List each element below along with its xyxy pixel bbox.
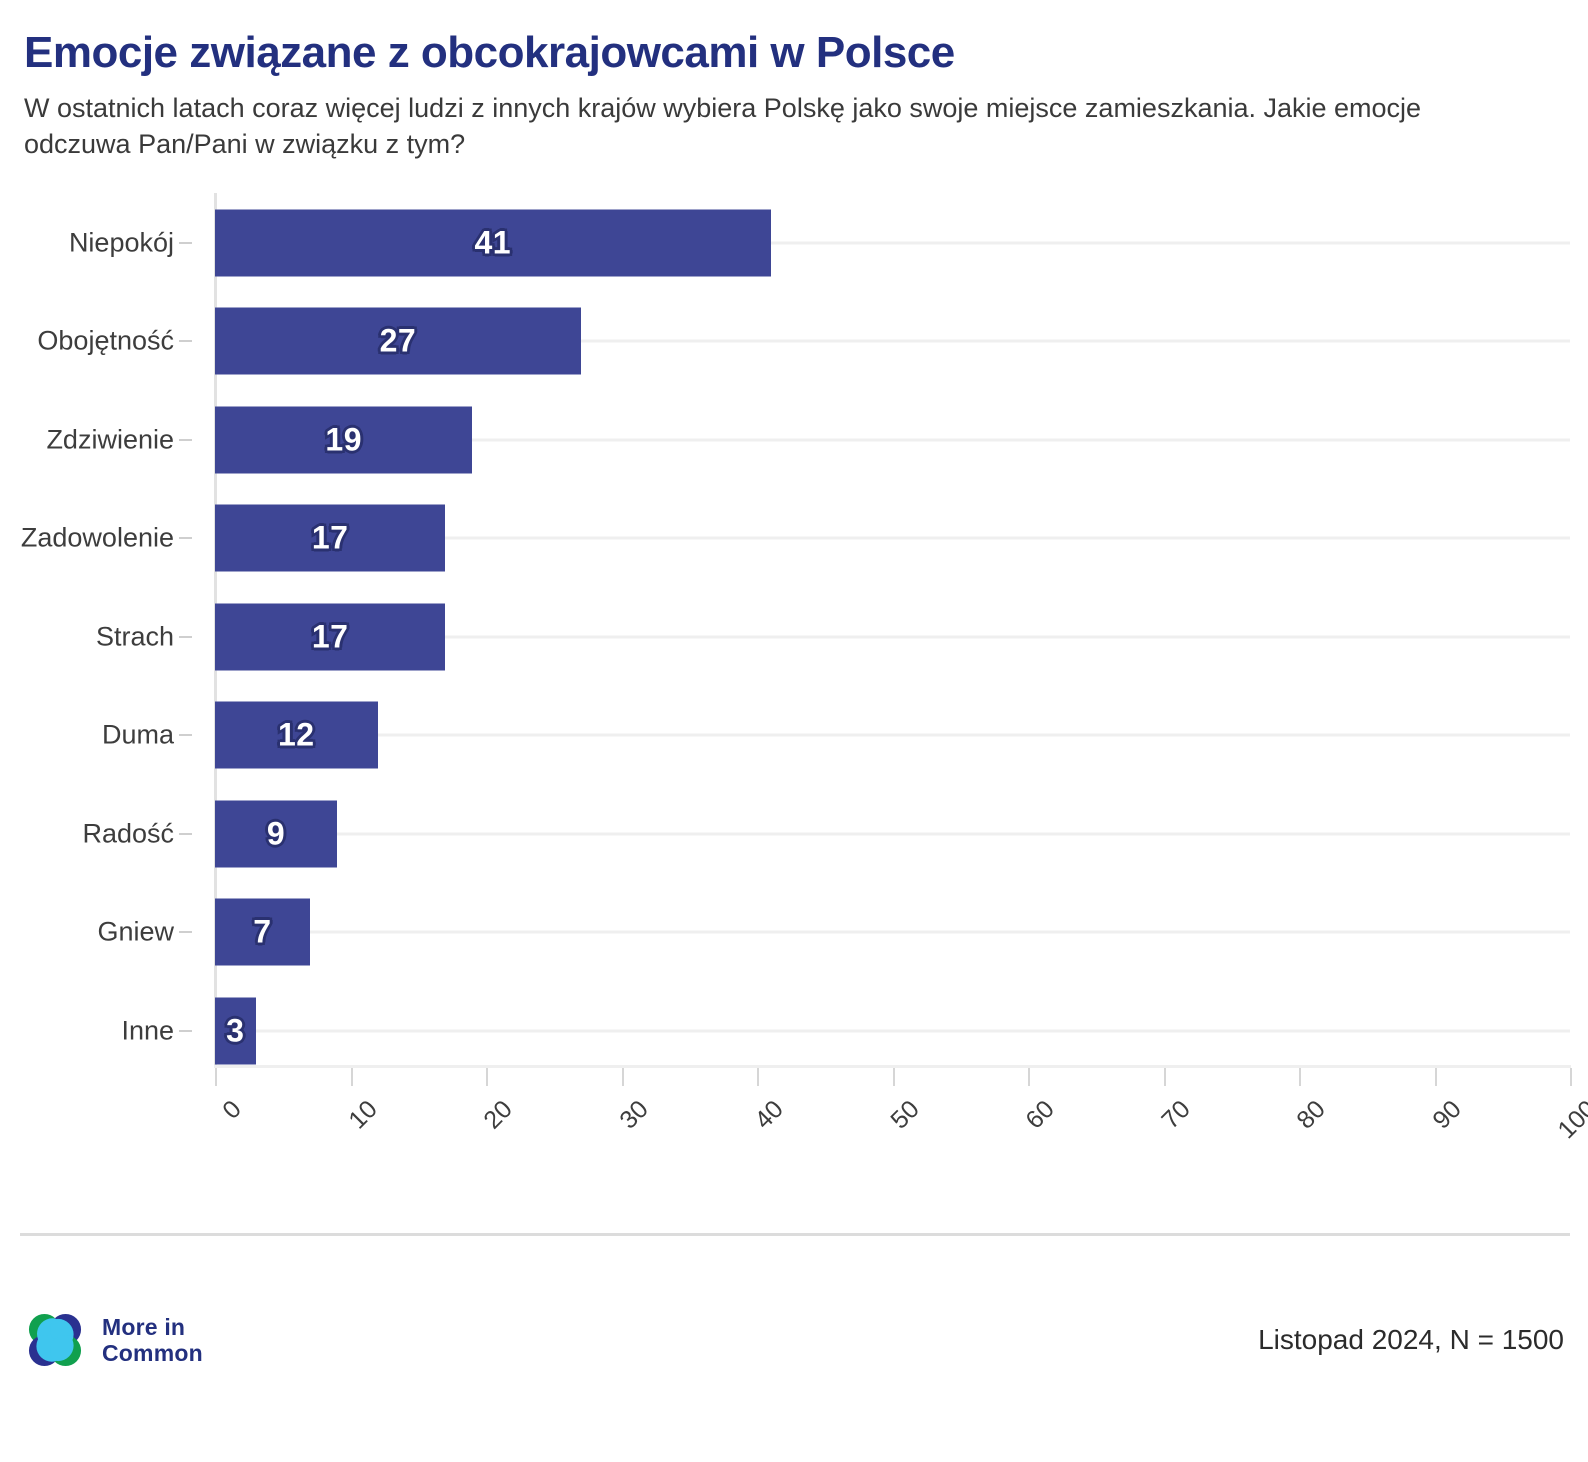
y-axis-tick — [179, 340, 192, 342]
logo-wordmark: More in Common — [102, 1314, 203, 1366]
bar-value-label: 9 — [267, 815, 285, 852]
x-axis-tick-label: 10 — [343, 1095, 383, 1135]
bar-value-label: 3 — [226, 1012, 244, 1049]
bar-value-label: 17 — [312, 618, 349, 655]
y-axis-tick — [179, 833, 192, 835]
bar[interactable]: 7 — [215, 899, 310, 966]
chart-subtitle: W ostatnich latach coraz więcej ludzi z … — [24, 91, 1444, 162]
x-axis-tick-label: 30 — [614, 1095, 654, 1135]
y-axis-tick — [179, 734, 192, 736]
bar[interactable]: 12 — [215, 702, 378, 769]
y-axis-label: Niepokój — [69, 227, 174, 258]
bar-value-label: 17 — [312, 520, 349, 557]
y-axis-tick — [179, 931, 192, 933]
x-axis-tick-label: 70 — [1156, 1095, 1196, 1135]
gridline — [215, 1029, 1570, 1032]
x-axis-tick — [893, 1068, 895, 1086]
bar[interactable]: 3 — [215, 997, 256, 1064]
x-axis-tick — [1435, 1068, 1437, 1086]
chart-plot: NiepokójObojętnośćZdziwienieZadowolenieS… — [0, 185, 1588, 1165]
bar-value-label: 7 — [253, 914, 271, 951]
source-note: Listopad 2024, N = 1500 — [1258, 1324, 1564, 1356]
x-axis-tick — [1570, 1068, 1572, 1086]
x-axis-tick — [1299, 1068, 1301, 1086]
plot-area: 412719171712973 — [215, 185, 1570, 1065]
y-axis-label: Duma — [102, 720, 174, 751]
x-axis: 0102030405060708090100 — [215, 1065, 1570, 1165]
gridline — [215, 832, 1570, 835]
y-axis-label: Obojętność — [37, 326, 174, 357]
x-axis-tick — [622, 1068, 624, 1086]
x-axis-tick-label: 0 — [217, 1095, 247, 1125]
gridline — [215, 734, 1570, 737]
bar[interactable]: 27 — [215, 308, 581, 375]
y-axis-label: Gniew — [97, 917, 174, 948]
y-axis-label: Strach — [96, 621, 174, 652]
chart-page: Emocje związane z obcokrajowcami w Polsc… — [0, 0, 1588, 1462]
bar[interactable]: 9 — [215, 800, 337, 867]
bar-value-label: 41 — [474, 224, 511, 261]
more-in-common-logo: More in Common — [24, 1309, 203, 1371]
gridline — [215, 931, 1570, 934]
x-axis-tick — [351, 1068, 353, 1086]
bar[interactable]: 41 — [215, 209, 771, 276]
bar[interactable]: 17 — [215, 505, 445, 572]
y-axis-tick — [179, 1030, 192, 1032]
x-axis-tick — [1028, 1068, 1030, 1086]
y-axis-labels: NiepokójObojętnośćZdziwienieZadowolenieS… — [0, 185, 196, 1065]
x-axis-tick — [215, 1068, 217, 1086]
y-axis-tick — [179, 242, 192, 244]
bar[interactable]: 17 — [215, 603, 445, 670]
x-axis-tick-label: 100 — [1553, 1095, 1588, 1145]
logo-mark-icon — [24, 1309, 86, 1371]
page-title: Emocje związane z obcokrajowcami w Polsc… — [24, 28, 1564, 77]
x-axis-tick-label: 60 — [1020, 1095, 1060, 1135]
logo-line-2: Common — [102, 1340, 203, 1366]
y-axis-label: Radość — [82, 818, 174, 849]
x-axis-tick-label: 80 — [1291, 1095, 1331, 1135]
y-axis-label: Zadowolenie — [21, 523, 174, 554]
bar-value-label: 27 — [380, 323, 417, 360]
logo-line-1: More in — [102, 1314, 203, 1340]
y-axis-tick — [179, 636, 192, 638]
y-axis-tick — [179, 439, 192, 441]
y-axis-label: Zdziwienie — [46, 424, 174, 455]
y-axis-label: Inne — [121, 1015, 174, 1046]
x-axis-tick — [757, 1068, 759, 1086]
x-axis-tick-label: 90 — [1427, 1095, 1467, 1135]
x-axis-tick-label: 40 — [749, 1095, 789, 1135]
x-axis-tick-label: 20 — [478, 1095, 518, 1135]
x-axis-tick — [1164, 1068, 1166, 1086]
x-axis-tick-label: 50 — [885, 1095, 925, 1135]
footer-divider — [20, 1233, 1570, 1236]
y-axis-tick — [179, 537, 192, 539]
chart-footer: More in Common Listopad 2024, N = 1500 — [0, 1285, 1588, 1395]
chart-header: Emocje związane z obcokrajowcami w Polsc… — [0, 0, 1588, 163]
bar-value-label: 19 — [325, 421, 362, 458]
bar-value-label: 12 — [278, 717, 315, 754]
bar[interactable]: 19 — [215, 406, 472, 473]
x-axis-tick — [486, 1068, 488, 1086]
